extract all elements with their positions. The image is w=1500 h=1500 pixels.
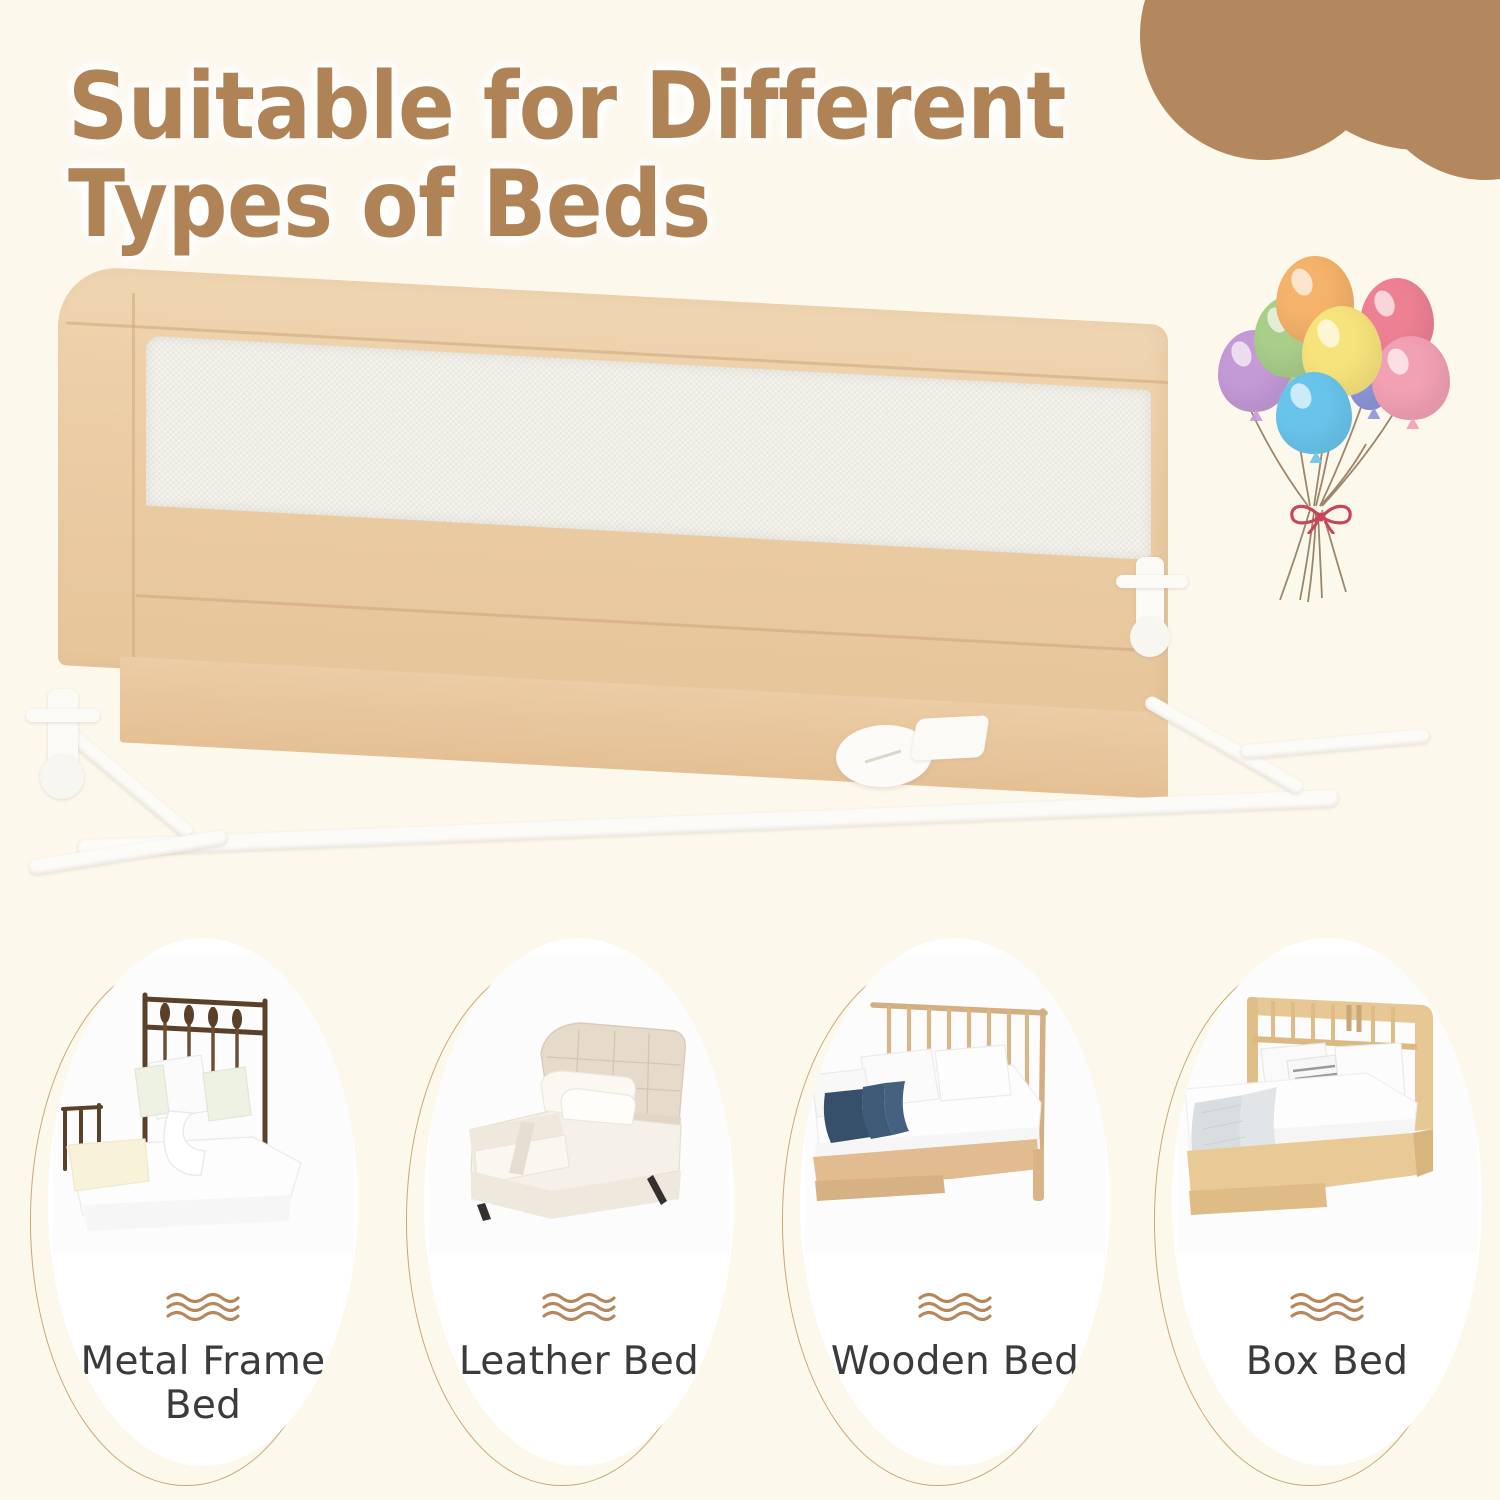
balloon-pink: [1372, 336, 1450, 420]
leather-bed-photo: [424, 938, 734, 1268]
floor-bar: [78, 790, 1338, 858]
box-bed-photo: [1172, 938, 1482, 1268]
card-metal-frame-bed[interactable]: Metal Frame Bed: [48, 938, 358, 1466]
left-clamp-knob: [40, 755, 84, 799]
card-label: Wooden Bed: [800, 1340, 1110, 1384]
left-support-leg: [64, 727, 196, 841]
card-label: Leather Bed: [424, 1340, 734, 1384]
marketing-banner: Suitable for Different Types of Beds: [0, 0, 1500, 1500]
card-background: Metal Frame Bed: [48, 938, 358, 1466]
bed-rail-guard-image: [18, 285, 1378, 885]
bed-type-card-list: Metal Frame Bed: [0, 938, 1500, 1478]
right-clamp-arm: [1116, 575, 1188, 588]
card-label: Metal Frame Bed: [48, 1340, 358, 1429]
card-wooden-bed[interactable]: Wooden Bed: [800, 938, 1110, 1466]
wavy-lines-icon: [164, 1290, 242, 1324]
card-background: Box Bed: [1172, 938, 1482, 1466]
wavy-lines-icon: [540, 1290, 618, 1324]
center-lock-grip: [910, 715, 989, 761]
card-leather-bed[interactable]: Leather Bed: [424, 938, 734, 1466]
left-clamp-arm: [26, 709, 100, 722]
ribbon-bow-icon: [1284, 500, 1358, 534]
right-clamp-knob: [1130, 617, 1170, 657]
card-label: Box Bed: [1172, 1340, 1482, 1384]
right-foot-bar: [1240, 729, 1430, 760]
left-foot-bar: [28, 829, 228, 875]
card-box-bed[interactable]: Box Bed: [1172, 938, 1482, 1466]
card-background: Leather Bed: [424, 938, 734, 1466]
metal-frame-bed-photo: [48, 938, 358, 1268]
wavy-lines-icon: [1288, 1290, 1366, 1324]
cloud-icon: [1140, 0, 1500, 180]
rail-metal-frame: [18, 285, 1378, 885]
card-background: Wooden Bed: [800, 938, 1110, 1466]
balloon-bunch-icon: [1188, 248, 1478, 608]
wooden-bed-photo: [800, 938, 1110, 1268]
balloon-blue: [1276, 372, 1352, 454]
wavy-lines-icon: [916, 1290, 994, 1324]
page-title: Suitable for Different Types of Beds: [68, 58, 1148, 253]
